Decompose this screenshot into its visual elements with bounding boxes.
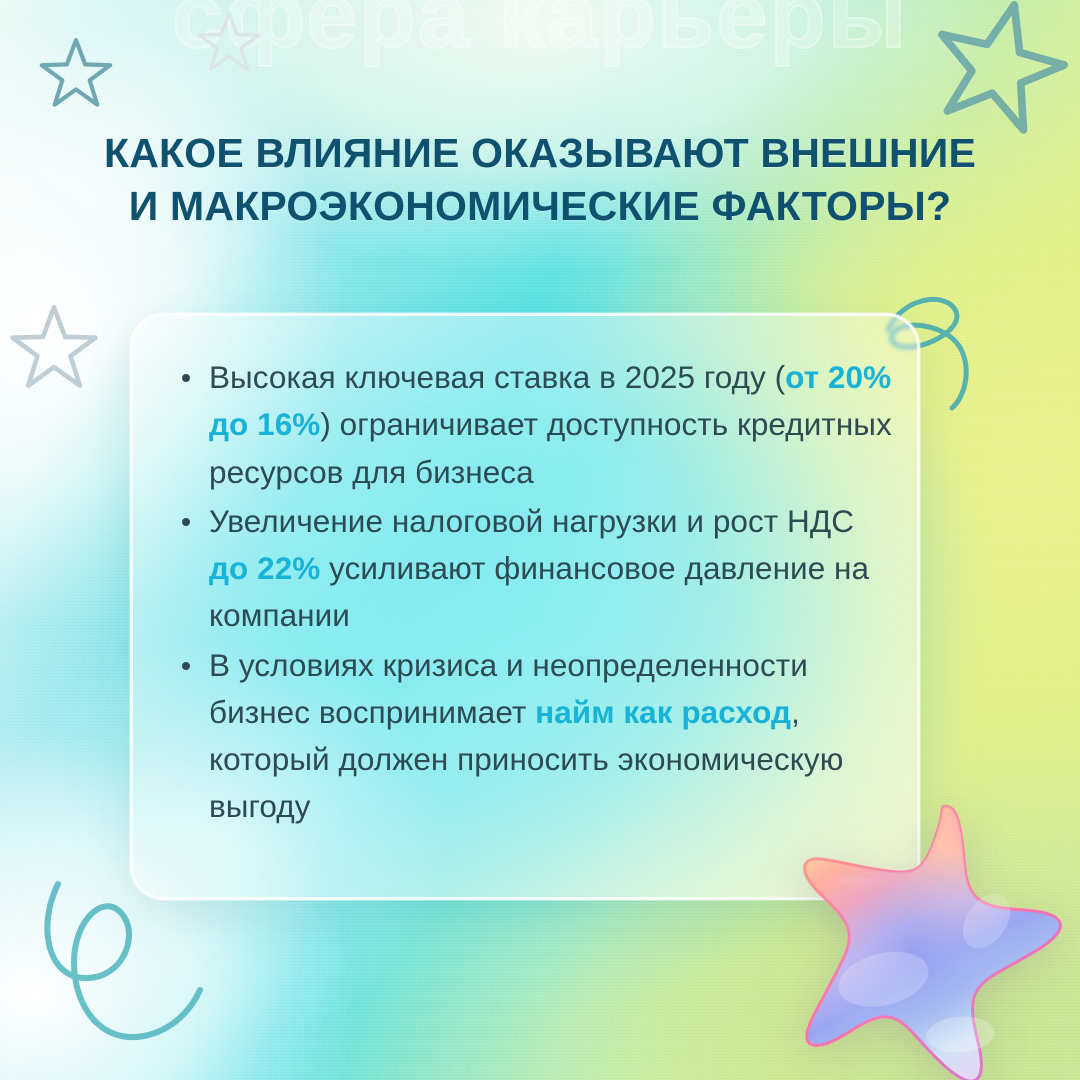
list-item: В условиях кризиса и неопределенности би… [169,642,893,831]
page-title-line-1: КАКОЕ ВЛИЯНИЕ ОКАЗЫВАЮТ ВНЕШНИЕ [60,127,1020,179]
highlighted-text: найм как расход [535,694,791,730]
bullet-dot-icon [182,374,190,382]
page-title: КАКОЕ ВЛИЯНИЕ ОКАЗЫВАЮТ ВНЕШНИЕ И МАКРОЭ… [0,127,1080,232]
bullet-text: В условиях кризиса и неопределенности би… [209,647,843,825]
plain-text: Высокая ключевая ставка в 2025 году ( [209,359,785,395]
page-title-line-2: И МАКРОЭКОНОМИЧЕСКИЕ ФАКТОРЫ? [60,180,1020,232]
bullet-dot-icon [182,662,190,670]
bullet-dot-icon [182,518,190,526]
content-card: Высокая ключевая ставка в 2025 году (от … [130,313,920,900]
bullet-list: Высокая ключевая ставка в 2025 году (от … [169,354,893,831]
infographic-slide: сфера карьеры КАКОЕ ВЛИЯНИЕ ОКАЗЫВАЮТ В [0,0,1080,1080]
highlighted-text: до 22% [209,550,320,586]
plain-text: Увеличение налоговой нагрузки и рост НДС [209,503,854,539]
list-item: Высокая ключевая ставка в 2025 году (от … [169,354,893,496]
bullet-text: Увеличение налоговой нагрузки и рост НДС… [209,503,869,634]
list-item: Увеличение налоговой нагрузки и рост НДС… [169,498,893,640]
bullet-text: Высокая ключевая ставка в 2025 году (от … [209,359,892,490]
